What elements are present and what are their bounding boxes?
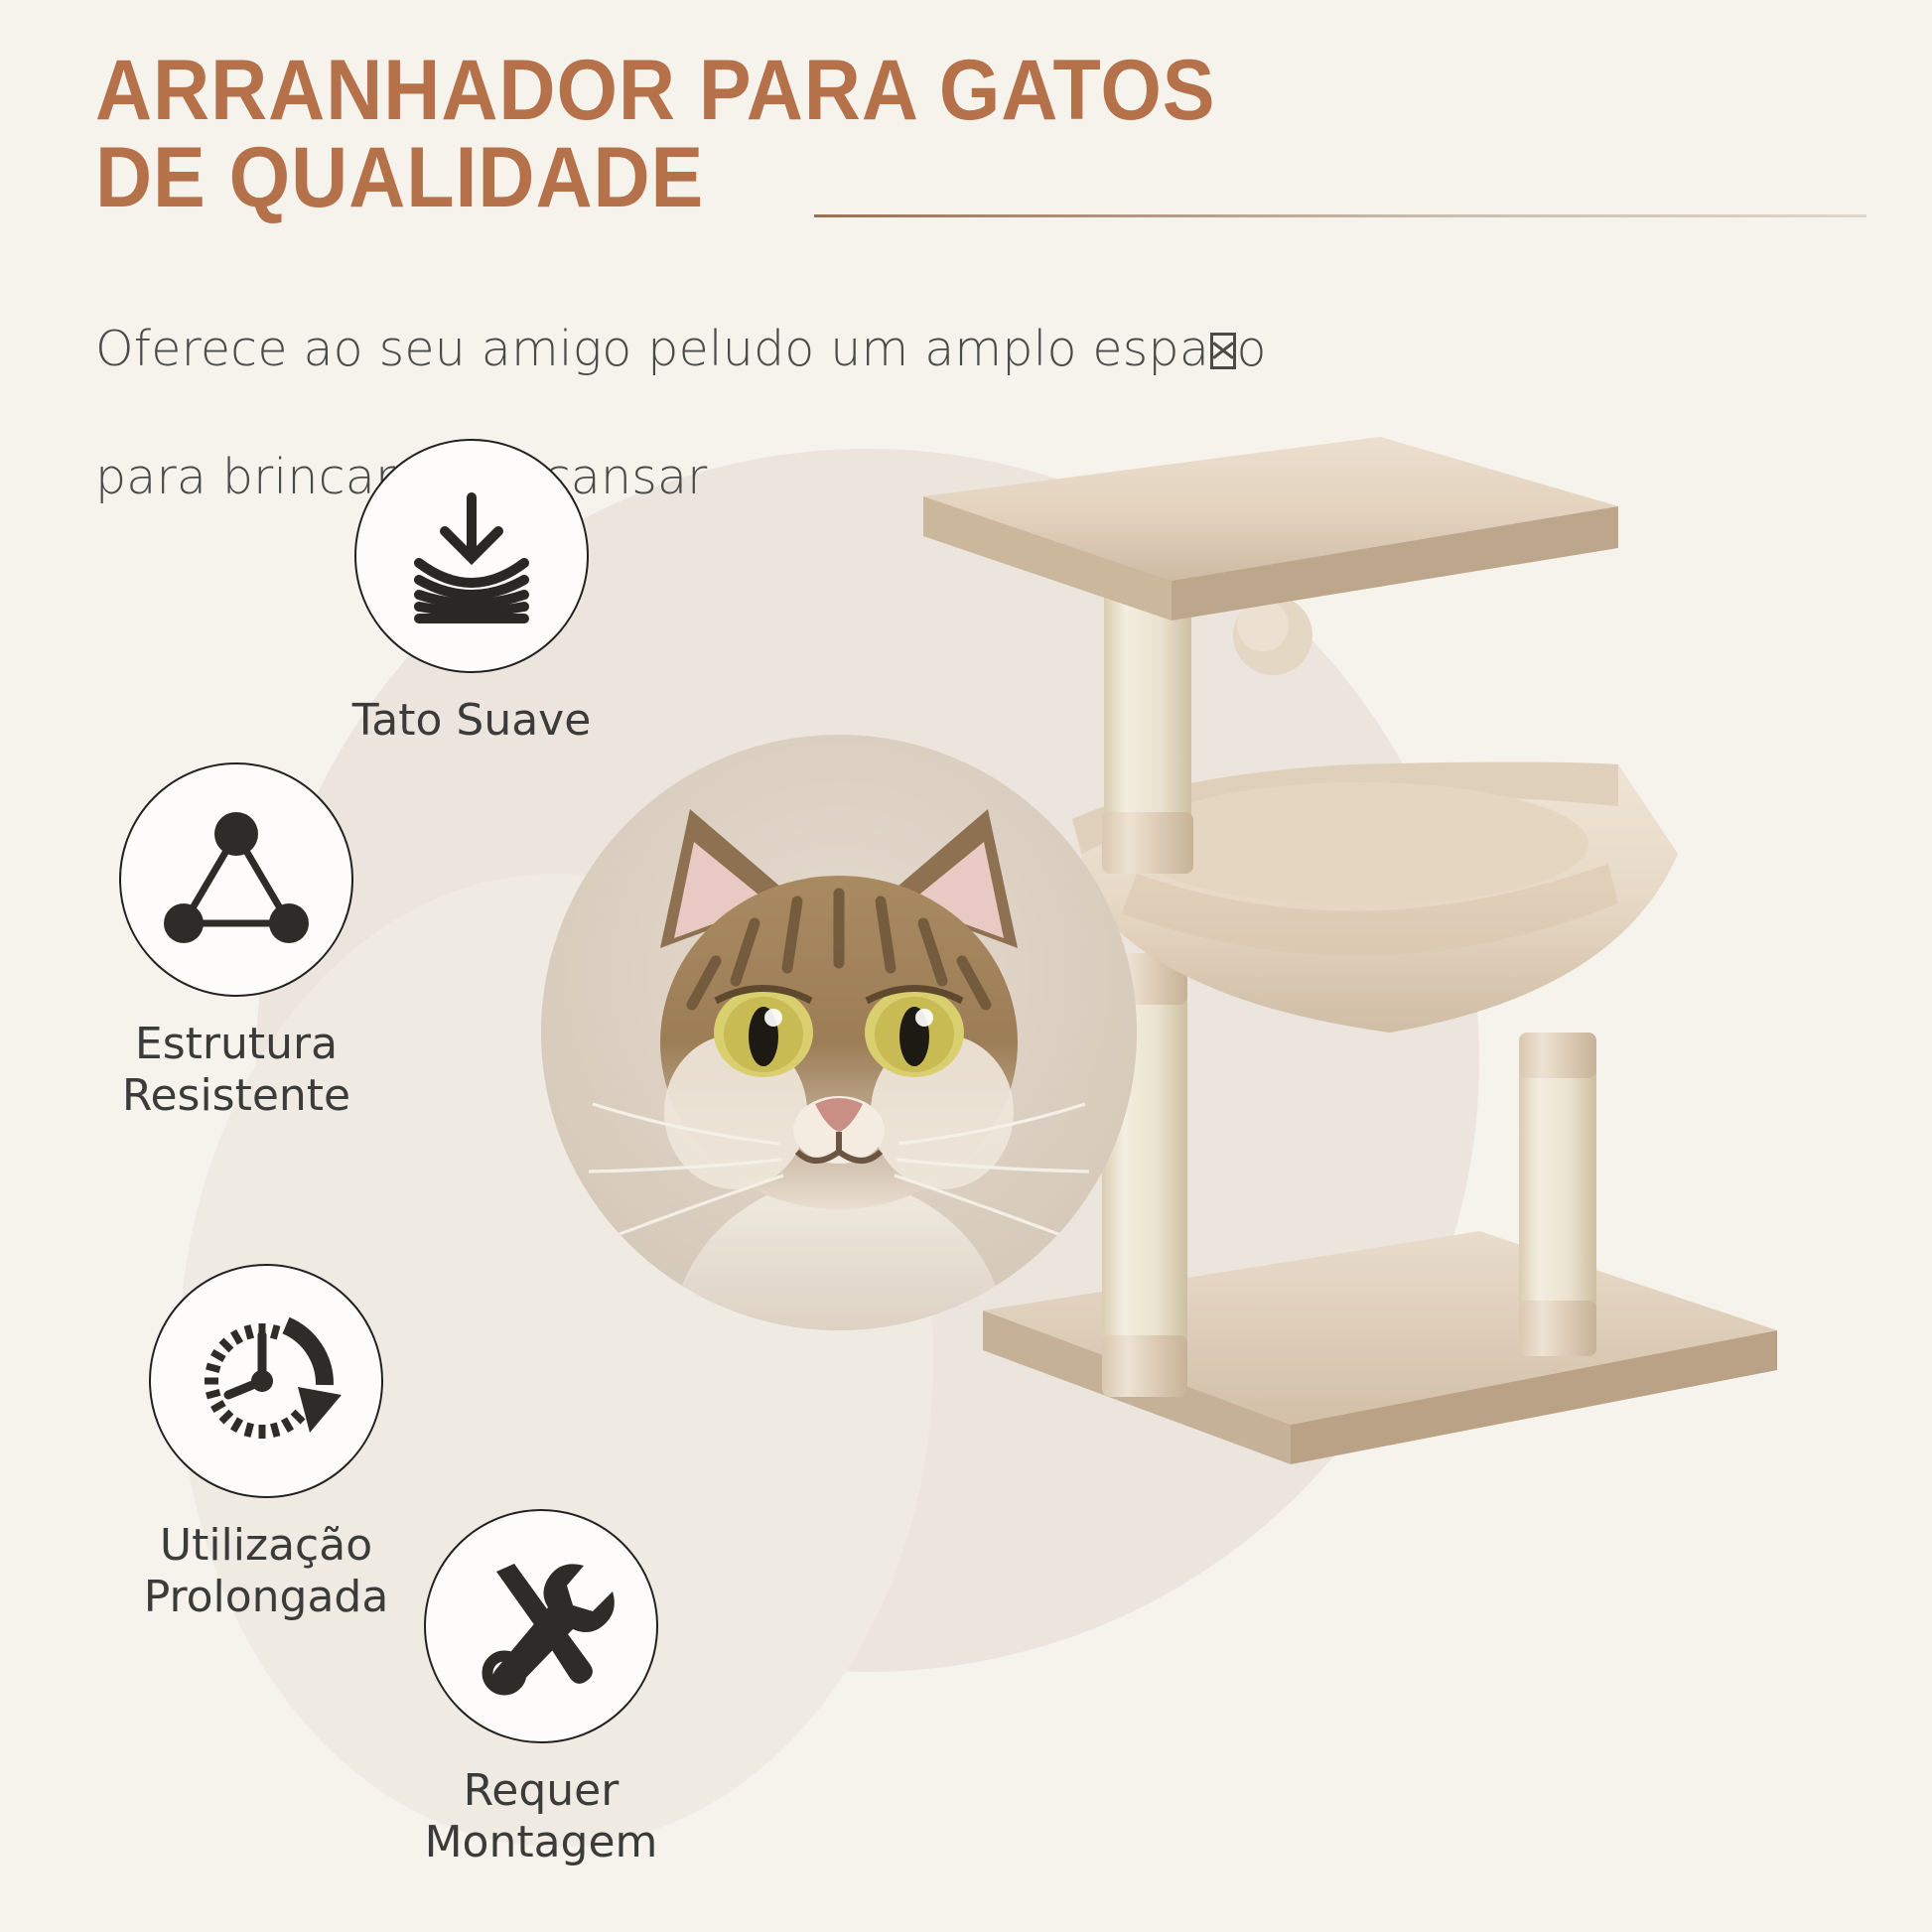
infographic-canvas: ARRANHADOR PARA GATOS DE QUALIDADE Ofere… [0, 0, 1932, 1932]
cat-photo [541, 735, 1137, 1330]
title-underline-rule [814, 214, 1866, 217]
feature-label: Tato Suave [303, 695, 640, 747]
top-platform [923, 437, 1618, 621]
missing-glyph-box-icon [1210, 333, 1235, 368]
feature-icon-badge [354, 439, 589, 673]
clock-arrow-icon [187, 1300, 345, 1463]
feature-icon-badge [424, 1509, 658, 1743]
cushion-softness-icon [397, 480, 546, 633]
feature-soft-touch: Tato Suave [303, 439, 640, 747]
feature-assembly-required: Requer Montagem [372, 1509, 710, 1868]
sisal-post-lower-right [1519, 1033, 1596, 1356]
feature-label: Requer Montagem [372, 1765, 710, 1868]
subtitle-text-after-glyph: o [1237, 321, 1267, 377]
tools-wrench-screwdriver-icon [467, 1550, 616, 1704]
feature-sturdy-structure: Estrutura Resistente [68, 762, 405, 1122]
triangle-structure-icon [162, 808, 311, 952]
feature-icon-badge [149, 1264, 383, 1498]
subtitle-text-before-glyph: Oferece ao seu amigo peludo um amplo esp… [95, 321, 1209, 377]
page-title: ARRANHADOR PARA GATOS DE QUALIDADE [95, 48, 1465, 221]
feature-label: Estrutura Resistente [68, 1019, 405, 1122]
feature-icon-badge [119, 762, 353, 997]
